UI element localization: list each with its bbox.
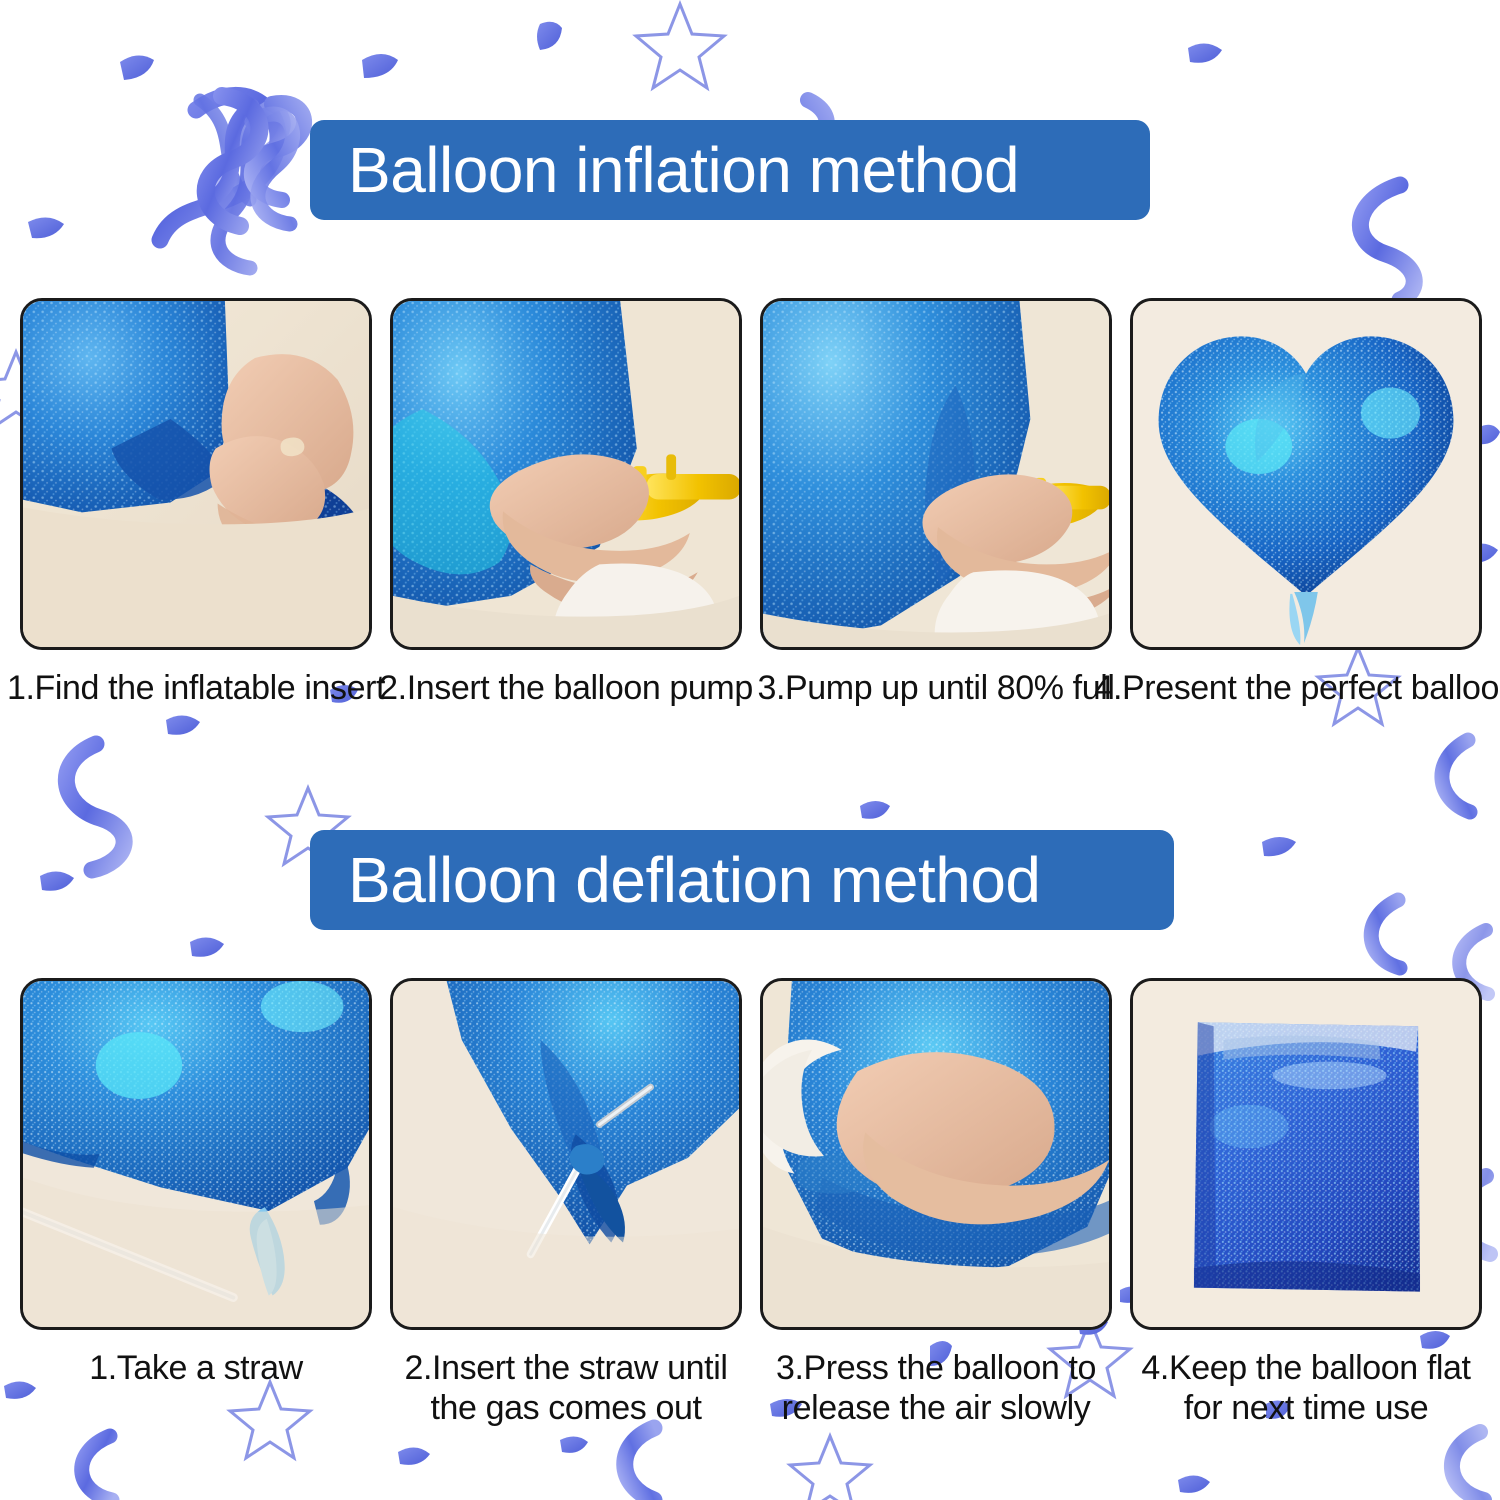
ribbon-icon — [252, 103, 304, 200]
ribbon-icon — [160, 95, 278, 240]
section-heading-label: Balloon inflation method — [348, 138, 1019, 202]
photo-pumping-balloon — [760, 298, 1112, 650]
step-grid-deflation: 1.Take a straw — [20, 978, 1482, 1428]
photo-straw-next-to-balloon — [20, 978, 372, 1330]
step-cell: 3.Pump up until 80% full — [760, 298, 1112, 708]
step-caption: 2.Insert the straw until the gas comes o… — [405, 1348, 728, 1428]
star-icon — [636, 4, 724, 88]
ribbon-icon — [1442, 740, 1470, 812]
photo-hand-holding-balloon-valve — [20, 298, 372, 650]
ribbon-icon — [212, 104, 276, 182]
ribbon-icon — [218, 108, 270, 268]
ribbon-icon — [82, 1436, 112, 1500]
step-cell: 2.Insert the balloon pump — [390, 298, 742, 708]
step-cell: 4.Keep the balloon flat for next time us… — [1130, 978, 1482, 1428]
step-cell: 3.Press the balloon to release the air s… — [760, 978, 1112, 1428]
instruction-infographic: Balloon inflation method — [0, 0, 1500, 1500]
ribbon-icon — [214, 106, 252, 198]
ribbon-icon — [206, 96, 260, 226]
photo-straw-inserted-in-valve — [390, 978, 742, 1330]
step-cell: 2.Insert the straw until the gas comes o… — [390, 978, 742, 1428]
photo-hand-pressing-balloon — [760, 978, 1112, 1330]
step-caption: 1.Find the inflatable insert — [7, 668, 385, 708]
ribbon-icon — [248, 105, 285, 158]
ribbon-icon — [66, 744, 124, 870]
step-grid-inflation: 1.Find the inflatable insert — [20, 298, 1482, 708]
ribbon-icon — [252, 114, 293, 224]
step-caption: 2.Insert the balloon pump — [379, 668, 753, 708]
star-icon — [790, 1436, 870, 1500]
step-cell: 1.Take a straw — [20, 978, 372, 1428]
section-heading-inflation: Balloon inflation method — [310, 120, 1150, 220]
ribbon-icon — [1360, 185, 1414, 300]
ribbon-icon — [625, 1428, 654, 1500]
photo-flat-folded-balloon — [1130, 978, 1482, 1330]
step-caption: 3.Press the balloon to release the air s… — [776, 1348, 1096, 1428]
ribbon-icon — [200, 100, 250, 200]
step-caption: 4.Present the perfect balloon — [1094, 668, 1500, 708]
step-caption: 4.Keep the balloon flat for next time us… — [1141, 1348, 1470, 1428]
section-heading-deflation: Balloon deflation method — [310, 830, 1174, 930]
step-caption: 3.Pump up until 80% full — [757, 668, 1114, 708]
section-heading-label: Balloon deflation method — [348, 848, 1041, 912]
step-cell: 1.Find the inflatable insert — [20, 298, 372, 708]
step-caption: 1.Take a straw — [89, 1348, 303, 1388]
photo-inserting-yellow-pump — [390, 298, 742, 650]
step-cell: 4.Present the perfect balloon — [1130, 298, 1482, 708]
photo-finished-heart-balloon — [1130, 298, 1482, 650]
ribbon-icon — [1452, 1432, 1484, 1500]
ribbon-icon — [1371, 900, 1400, 968]
